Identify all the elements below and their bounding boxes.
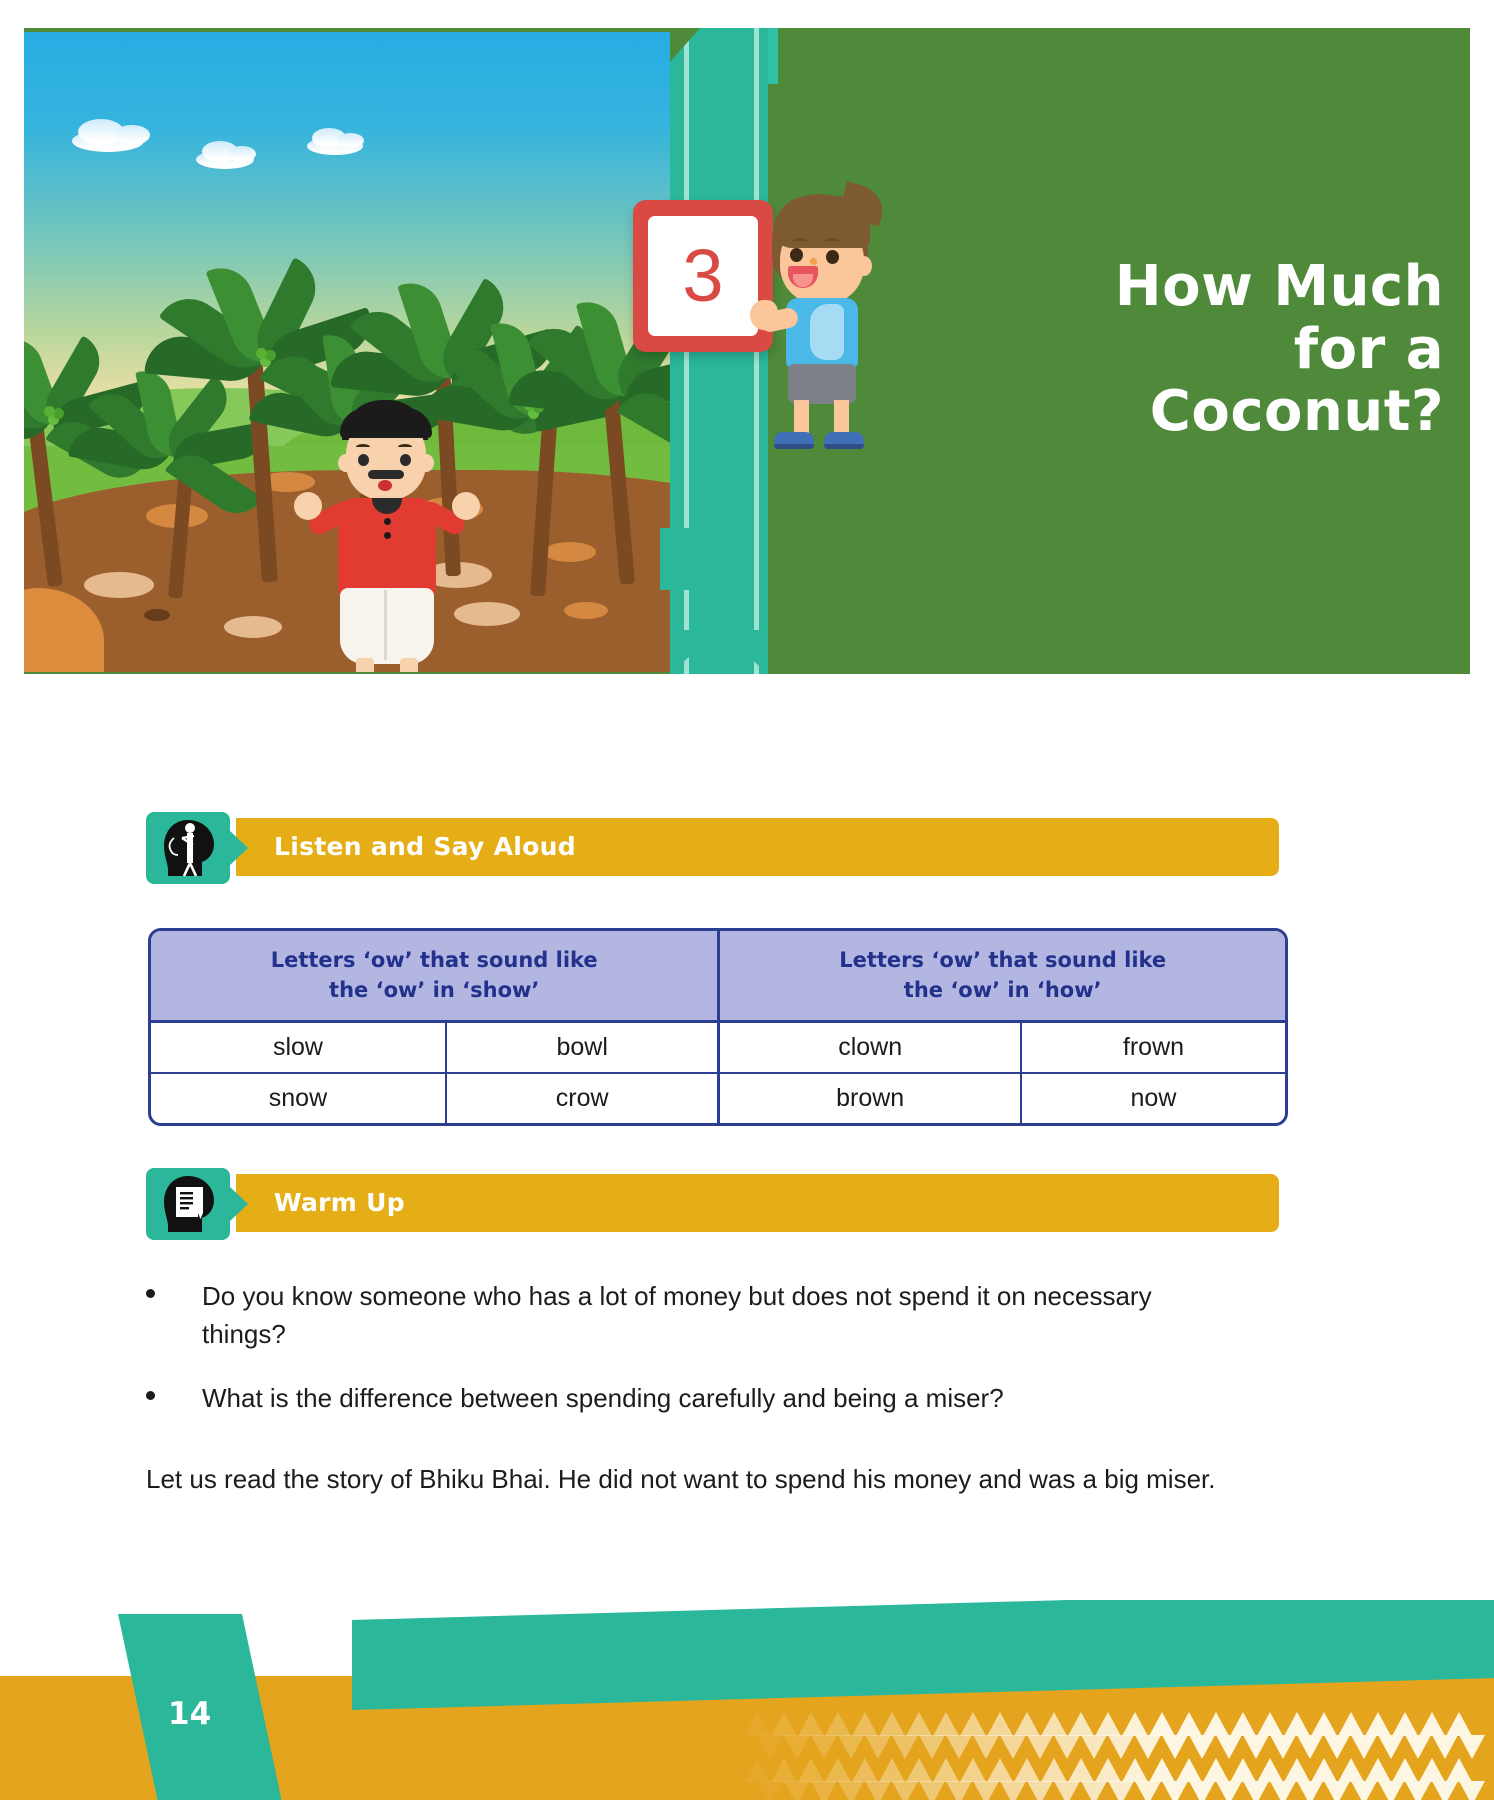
- triangle-decor: [919, 1735, 945, 1759]
- bullet-dot-icon: [146, 1289, 155, 1298]
- triangle-decor: [1230, 1712, 1256, 1736]
- triangle-decor: [1041, 1758, 1067, 1782]
- triangle-decor: [1054, 1781, 1080, 1800]
- section-title-listen: Listen and Say Aloud: [274, 832, 576, 861]
- triangle-decor: [1365, 1712, 1391, 1736]
- section-header-listen: Listen and Say Aloud: [146, 812, 1279, 884]
- triangle-decor: [1122, 1712, 1148, 1736]
- table-cell: clown: [720, 1023, 1022, 1074]
- ground-pebble: [564, 602, 608, 619]
- triangle-decor: [919, 1781, 945, 1800]
- triangle-decor: [906, 1712, 932, 1736]
- triangle-decor: [1297, 1781, 1323, 1800]
- triangle-decor: [960, 1712, 986, 1736]
- triangle-decor: [1378, 1735, 1404, 1759]
- triangle-decor: [1257, 1712, 1283, 1736]
- triangle-decor: [771, 1712, 797, 1736]
- triangle-decor: [1432, 1781, 1458, 1800]
- table-cell: frown: [1022, 1023, 1285, 1074]
- table-row: snow crow brown now: [151, 1074, 1285, 1123]
- triangle-decor: [1068, 1712, 1094, 1736]
- triangle-decor: [1365, 1758, 1391, 1782]
- triangle-decor: [1054, 1735, 1080, 1759]
- triangle-decor: [1378, 1781, 1404, 1800]
- chapter-title-line-1: How Much: [854, 256, 1444, 319]
- triangle-decor: [933, 1712, 959, 1736]
- triangle-decor: [1149, 1712, 1175, 1736]
- triangle-decor: [1338, 1712, 1364, 1736]
- triangle-decor: [1081, 1781, 1107, 1800]
- table-cell: bowl: [447, 1023, 721, 1074]
- triangle-decor: [1162, 1735, 1188, 1759]
- textbook-page: 3 How Mu: [0, 0, 1494, 1800]
- table-row: slow bowl clown frown: [151, 1023, 1285, 1074]
- table-cell: snow: [151, 1074, 447, 1123]
- triangle-decor: [946, 1781, 972, 1800]
- header-line-1: Letters ‘ow’ that sound like: [839, 948, 1166, 972]
- triangle-decor: [1459, 1735, 1485, 1759]
- cloud-icon: [307, 137, 363, 155]
- chapter-number-card: 3: [633, 200, 773, 352]
- triangle-decor: [973, 1735, 999, 1759]
- triangle-decor: [798, 1758, 824, 1782]
- triangle-decor: [1176, 1712, 1202, 1736]
- chapter-title: How Much for a Coconut?: [854, 256, 1444, 444]
- triangle-decor: [1297, 1735, 1323, 1759]
- bhiku-bhai-character: [312, 400, 462, 672]
- triangle-decor: [892, 1781, 918, 1800]
- triangle-decor: [1284, 1712, 1310, 1736]
- triangle-decor: [1095, 1758, 1121, 1782]
- triangle-decor: [1270, 1781, 1296, 1800]
- ground-pebble: [84, 572, 154, 598]
- triangle-decor: [960, 1758, 986, 1782]
- triangle-decor: [865, 1781, 891, 1800]
- triangle-decor: [1311, 1712, 1337, 1736]
- page-footer: 14: [0, 1600, 1494, 1800]
- triangle-decor: [987, 1758, 1013, 1782]
- table-cell: slow: [151, 1023, 447, 1074]
- triangle-decor: [1405, 1735, 1431, 1759]
- triangle-decor: [744, 1758, 770, 1782]
- triangle-decor: [825, 1712, 851, 1736]
- footer-triangle-pattern: [690, 1712, 1494, 1800]
- triangle-decor: [1135, 1735, 1161, 1759]
- triangle-decor: [784, 1735, 810, 1759]
- triangle-decor: [1000, 1781, 1026, 1800]
- triangle-decor: [838, 1781, 864, 1800]
- triangle-decor: [1392, 1758, 1418, 1782]
- triangle-decor: [1216, 1781, 1242, 1800]
- header-line-2: the ‘ow’ in ‘show’: [329, 978, 539, 1002]
- table-header-show: Letters ‘ow’ that sound like the ‘ow’ in…: [151, 931, 720, 1023]
- triangle-decor: [1243, 1781, 1269, 1800]
- triangle-decor: [744, 1712, 770, 1736]
- triangle-decor: [1122, 1758, 1148, 1782]
- triangle-decor: [1419, 1758, 1445, 1782]
- list-item: What is the difference between spending …: [146, 1380, 1206, 1418]
- triangle-decor: [798, 1712, 824, 1736]
- triangle-decor: [1432, 1735, 1458, 1759]
- triangle-decor: [933, 1758, 959, 1782]
- table-header-how: Letters ‘ow’ that sound like the ‘ow’ in…: [720, 931, 1285, 1023]
- triangle-decor: [1000, 1735, 1026, 1759]
- triangle-decor: [1108, 1781, 1134, 1800]
- triangle-decor: [852, 1758, 878, 1782]
- triangle-decor: [865, 1735, 891, 1759]
- triangle-decor: [811, 1735, 837, 1759]
- triangle-decor: [838, 1735, 864, 1759]
- coconut-grove-scene: [24, 32, 754, 672]
- triangle-decor: [1108, 1735, 1134, 1759]
- triangle-decor: [852, 1712, 878, 1736]
- triangle-decor: [1324, 1781, 1350, 1800]
- closing-paragraph: Let us read the story of Bhiku Bhai. He …: [146, 1461, 1216, 1499]
- list-item: Do you know someone who has a lot of mon…: [146, 1278, 1206, 1354]
- triangle-decor: [1243, 1735, 1269, 1759]
- triangle-decor: [892, 1735, 918, 1759]
- bullet-text: What is the difference between spending …: [202, 1383, 1004, 1413]
- bullet-text: Do you know someone who has a lot of mon…: [202, 1281, 1152, 1349]
- triangle-decor: [946, 1735, 972, 1759]
- triangle-decor: [1230, 1758, 1256, 1782]
- ground-pebble: [454, 602, 520, 626]
- triangle-decor: [879, 1758, 905, 1782]
- triangle-decor: [1068, 1758, 1094, 1782]
- triangle-decor: [1419, 1712, 1445, 1736]
- triangle-decor: [1338, 1758, 1364, 1782]
- triangle-decor: [879, 1712, 905, 1736]
- triangle-decor: [1405, 1781, 1431, 1800]
- table-cell: crow: [447, 1074, 721, 1123]
- triangle-decor: [757, 1781, 783, 1800]
- triangle-decor: [1162, 1781, 1188, 1800]
- triangle-decor: [1041, 1712, 1067, 1736]
- triangle-decor: [1446, 1758, 1472, 1782]
- triangle-decor: [906, 1758, 932, 1782]
- table-cell: now: [1022, 1074, 1285, 1123]
- triangle-decor: [1216, 1735, 1242, 1759]
- triangle-decor: [1176, 1758, 1202, 1782]
- triangle-decor: [825, 1758, 851, 1782]
- triangle-decor: [973, 1781, 999, 1800]
- hero-banner: 3 How Mu: [24, 28, 1470, 674]
- ground-pebble: [144, 609, 170, 621]
- chapter-title-line-3: Coconut?: [854, 381, 1444, 444]
- triangle-decor: [1203, 1712, 1229, 1736]
- triangle-decor: [1311, 1758, 1337, 1782]
- page-number: 14: [168, 1696, 211, 1732]
- bullet-dot-icon: [146, 1391, 155, 1400]
- triangle-decor: [1135, 1781, 1161, 1800]
- triangle-decor: [1270, 1735, 1296, 1759]
- triangle-decor: [987, 1712, 1013, 1736]
- triangle-decor: [1351, 1735, 1377, 1759]
- triangle-decor: [1351, 1781, 1377, 1800]
- warm-up-bullets: Do you know someone who has a lot of mon…: [146, 1278, 1206, 1444]
- triangle-decor: [811, 1781, 837, 1800]
- ground-pebble: [544, 542, 596, 562]
- triangle-decor: [1014, 1712, 1040, 1736]
- ow-sounds-table: Letters ‘ow’ that sound like the ‘ow’ in…: [148, 928, 1288, 1126]
- triangle-decor: [1392, 1712, 1418, 1736]
- section-title-warm-up: Warm Up: [274, 1188, 405, 1217]
- triangle-decor: [1284, 1758, 1310, 1782]
- triangle-decor: [757, 1735, 783, 1759]
- chapter-number: 3: [682, 239, 723, 313]
- triangle-decor: [784, 1781, 810, 1800]
- ground-pebble: [224, 616, 282, 638]
- triangle-decor: [1189, 1781, 1215, 1800]
- triangle-decor: [1027, 1781, 1053, 1800]
- table-cell: brown: [720, 1074, 1022, 1123]
- cloud-icon: [72, 130, 144, 152]
- triangle-decor: [1324, 1735, 1350, 1759]
- triangle-decor: [1014, 1758, 1040, 1782]
- chapter-title-line-2: for a: [854, 319, 1444, 382]
- triangle-decor: [1149, 1758, 1175, 1782]
- head-speaking-icon: [146, 812, 230, 884]
- triangle-decor: [1027, 1735, 1053, 1759]
- triangle-decor: [1459, 1781, 1485, 1800]
- head-notebook-icon: [146, 1168, 230, 1240]
- triangle-decor: [1095, 1712, 1121, 1736]
- triangle-decor: [1189, 1735, 1215, 1759]
- triangle-decor: [1081, 1735, 1107, 1759]
- triangle-decor: [1446, 1712, 1472, 1736]
- header-line-1: Letters ‘ow’ that sound like: [271, 948, 598, 972]
- section-header-warm-up: Warm Up: [146, 1168, 1279, 1240]
- table-header-row: Letters ‘ow’ that sound like the ‘ow’ in…: [151, 931, 1285, 1023]
- triangle-decor: [771, 1758, 797, 1782]
- cloud-icon: [196, 150, 254, 169]
- header-line-2: the ‘ow’ in ‘how’: [904, 978, 1102, 1002]
- triangle-decor: [1257, 1758, 1283, 1782]
- triangle-decor: [1203, 1758, 1229, 1782]
